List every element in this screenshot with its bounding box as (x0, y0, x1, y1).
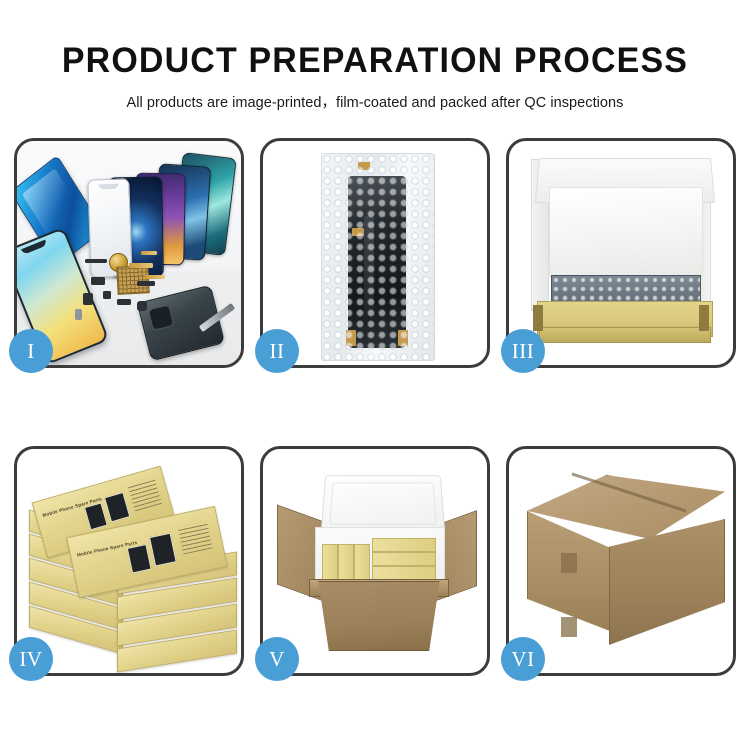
process-step-panel-3[interactable]: III (506, 138, 736, 368)
bubble-wrap-bag (321, 153, 435, 361)
process-step-panel-1[interactable]: I (14, 138, 244, 368)
tape-mid (352, 228, 364, 236)
yellow-box-front-edge (539, 327, 711, 343)
panel-photo-parts-spread (17, 141, 241, 365)
tape-bottom-left (346, 330, 356, 346)
process-step-panel-5[interactable]: V (260, 446, 490, 676)
page-root: PRODUCT PREPARATION PROCESS All products… (0, 0, 750, 750)
process-step-panel-6[interactable]: VI (506, 446, 736, 676)
part-chip-4 (103, 291, 111, 299)
tape-bottom-right (398, 330, 408, 346)
step-badge-2: II (255, 329, 299, 373)
inner-yellow-box-6 (372, 566, 436, 580)
box-corner-left (533, 305, 543, 331)
part-flex-cable-3 (141, 251, 157, 255)
carton-tab-lower (561, 617, 577, 637)
part-flex-cable-1 (129, 263, 153, 268)
inner-yellow-box-4 (372, 538, 436, 552)
header: PRODUCT PREPARATION PROCESS All products… (0, 0, 750, 112)
process-step-grid: I II (14, 138, 736, 676)
tape-top (358, 162, 370, 170)
carton-right-face (609, 519, 725, 645)
box-spec-lines-a (128, 479, 162, 512)
step-badge-4: IV (9, 637, 53, 681)
page-title: PRODUCT PREPARATION PROCESS (11, 0, 739, 80)
box-window-b1 (127, 544, 152, 574)
inner-yellow-box-5 (372, 552, 436, 566)
page-subtitle: All products are image-printed，film-coat… (0, 80, 750, 112)
carton-tab-upper (561, 553, 577, 573)
box-window-a2 (104, 492, 130, 523)
foam-cooler-lid (321, 475, 446, 533)
box-window-b2 (149, 533, 177, 567)
box-window-a1 (84, 502, 108, 530)
part-chip-5 (117, 299, 131, 305)
step-badge-3: III (501, 329, 545, 373)
part-chip-7 (137, 281, 155, 286)
box-stack: Mobile Phone Spare Parts Mobile Phone Sp… (29, 469, 235, 661)
panel-photo-bubble-wrapped-screen (263, 141, 487, 365)
panel-photo-sealed-carton (509, 449, 733, 673)
step-badge-6: VI (501, 637, 545, 681)
foam-sheet (549, 187, 703, 277)
step-badge-1: I (9, 329, 53, 373)
part-chip-1 (85, 259, 107, 263)
step-badge-5: V (255, 637, 299, 681)
panel-photo-carton-with-foam (263, 449, 487, 673)
carton-body (313, 581, 445, 651)
panel-photo-stacked-boxes: Mobile Phone Spare Parts Mobile Phone Sp… (17, 449, 241, 673)
box-corner-right (699, 305, 709, 331)
screw-tray (116, 265, 149, 295)
part-chip-6 (137, 301, 147, 311)
part-chip-2 (91, 277, 105, 285)
process-step-panel-4[interactable]: Mobile Phone Spare Parts Mobile Phone Sp… (14, 446, 244, 676)
part-chip-8 (75, 309, 82, 320)
part-flex-cable-2 (145, 275, 165, 279)
box-spec-lines-b (177, 521, 212, 555)
part-chip-3 (83, 293, 93, 305)
process-step-panel-2[interactable]: II (260, 138, 490, 368)
panel-photo-open-yellow-box (509, 141, 733, 365)
wrapped-lcd-screen (348, 176, 406, 348)
